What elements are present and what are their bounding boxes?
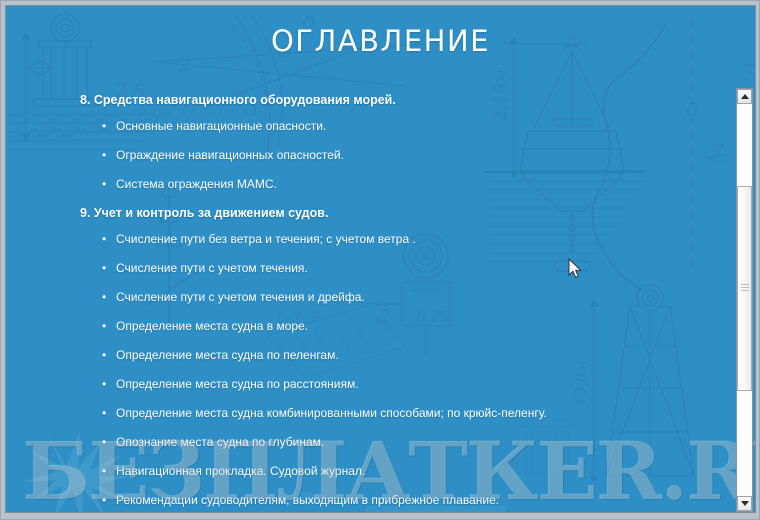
toc-item[interactable]: •Счисление пути с учетом течения. — [102, 260, 715, 276]
bullet-icon: • — [102, 291, 116, 303]
table-of-contents: 8. Средства навигационного оборудования … — [80, 92, 715, 512]
toc-label: Счисление пути с учетом течения и дрейфа… — [116, 290, 365, 304]
bullet-icon: • — [102, 149, 116, 161]
toc-item[interactable]: •Система ограждения МАМС. — [102, 176, 715, 192]
triangle-up-icon — [741, 94, 749, 99]
toc-item[interactable]: •Определение места судна в море. — [102, 318, 715, 334]
bullet-icon: • — [102, 262, 116, 274]
toc-label: Определение места судна по расстояниям. — [116, 377, 359, 391]
toc-heading[interactable]: 9. Учет и контроль за движением судов. — [80, 205, 715, 221]
bullet-icon: • — [102, 378, 116, 390]
scroll-up-button[interactable] — [737, 89, 752, 104]
toc-item[interactable]: •Счисление пути с учетом течения и дрейф… — [102, 289, 715, 305]
toc-item[interactable]: •Рекомендации судоводителям, выходящим в… — [102, 492, 715, 508]
toc-item[interactable]: •Счисление пути без ветра и течения; с у… — [102, 231, 715, 247]
toc-item[interactable]: •Определение места судна по пеленгам. — [102, 347, 715, 363]
vertical-scrollbar[interactable] — [736, 88, 753, 512]
scrollbar-thumb[interactable] — [737, 186, 752, 391]
toc-label: 9. Учет и контроль за движением судов. — [80, 206, 328, 220]
bullet-icon: • — [102, 465, 116, 477]
toc-item[interactable]: •Определение места судна комбинированным… — [102, 405, 715, 421]
toc-heading[interactable]: 8. Средства навигационного оборудования … — [80, 92, 715, 108]
bullet-icon: • — [102, 436, 116, 448]
bullet-icon: • — [102, 233, 116, 245]
toc-item[interactable]: •Определение места судна по расстояниям. — [102, 376, 715, 392]
toc-label: Счисление пути без ветра и течения; с уч… — [116, 232, 416, 246]
bullet-icon: • — [102, 320, 116, 332]
toc-label: Навигационная прокладка. Судовой журнал. — [116, 464, 365, 478]
slide-canvas[interactable]: 2 2 5 О О О — [6, 6, 755, 512]
toc-item[interactable]: •Опознание места судна по глубинам. — [102, 434, 715, 450]
toc-label: 8. Средства навигационного оборудования … — [80, 93, 396, 107]
toc-label: Счисление пути с учетом течения. — [116, 261, 308, 275]
toc-label: Система ограждения МАМС. — [116, 177, 277, 191]
toc-label: Определение места судна в море. — [116, 319, 308, 333]
toc-label: Определение места судна по пеленгам. — [116, 348, 339, 362]
scroll-down-button[interactable] — [737, 496, 752, 511]
scrollbar-track[interactable] — [737, 104, 752, 496]
page-title: ОГЛАВЛЕНИЕ — [6, 24, 755, 58]
toc-label: Основные навигационные опасности. — [116, 119, 326, 133]
bullet-icon: • — [102, 120, 116, 132]
toc-item[interactable]: •Ограждение навигационных опасностей. — [102, 147, 715, 163]
toc-label: Опознание места судна по глубинам. — [116, 435, 324, 449]
bullet-icon: • — [102, 178, 116, 190]
toc-label: Определение места судна комбинированными… — [116, 406, 547, 420]
viewer-content-frame: 2 2 5 О О О — [5, 5, 756, 513]
toc-item[interactable]: •Навигационная прокладка. Судовой журнал… — [102, 463, 715, 479]
bullet-icon: • — [102, 349, 116, 361]
toc-label: Ограждение навигационных опасностей. — [116, 148, 344, 162]
bullet-icon: • — [102, 407, 116, 419]
toc-item[interactable]: •Основные навигационные опасности. — [102, 118, 715, 134]
triangle-down-icon — [741, 501, 749, 506]
document-viewer-window: 2 2 5 О О О — [0, 0, 760, 520]
grip-lines-icon — [741, 284, 749, 293]
toc-label: Рекомендации судоводителям, выходящим в … — [116, 493, 499, 507]
bullet-icon: • — [102, 494, 116, 506]
